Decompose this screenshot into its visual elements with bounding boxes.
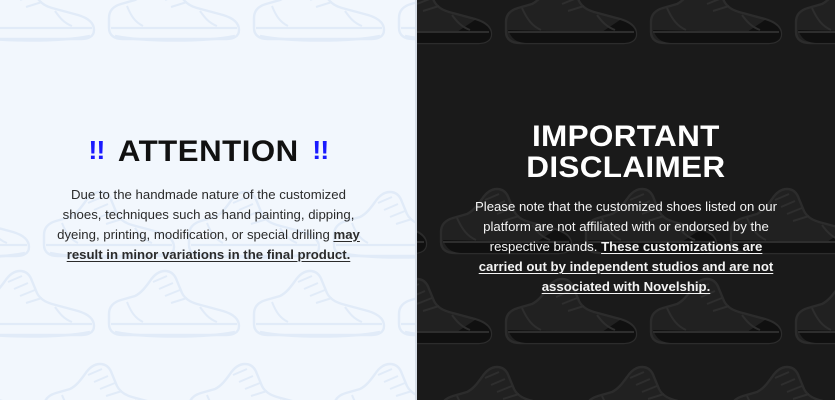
disclaimer-heading-line2: DISCLAIMER (526, 153, 725, 183)
attention-heading-text: ATTENTION (118, 136, 299, 168)
panel-divider (415, 0, 417, 400)
disclaimer-body: Please note that the customized shoes li… (469, 197, 783, 297)
attention-body-plain: Due to the handmade nature of the custom… (57, 187, 354, 242)
attention-heading: !! ATTENTION !! (89, 136, 329, 168)
attention-content: !! ATTENTION !! Due to the handmade natu… (0, 136, 417, 265)
exclamation-right-icon: !! (312, 137, 328, 164)
exclamation-left-icon: !! (89, 137, 105, 164)
disclaimer-heading-line1: IMPORTANT (532, 122, 720, 152)
disclaimer-heading: IMPORTANT DISCLAIMER (526, 122, 725, 183)
attention-disclaimer-banner: !! ATTENTION !! Due to the handmade natu… (0, 0, 835, 400)
disclaimer-panel: IMPORTANT DISCLAIMER Please note that th… (417, 0, 835, 400)
attention-body: Due to the handmade nature of the custom… (56, 185, 361, 265)
disclaimer-content: IMPORTANT DISCLAIMER Please note that th… (417, 122, 835, 297)
attention-panel: !! ATTENTION !! Due to the handmade natu… (0, 0, 417, 400)
